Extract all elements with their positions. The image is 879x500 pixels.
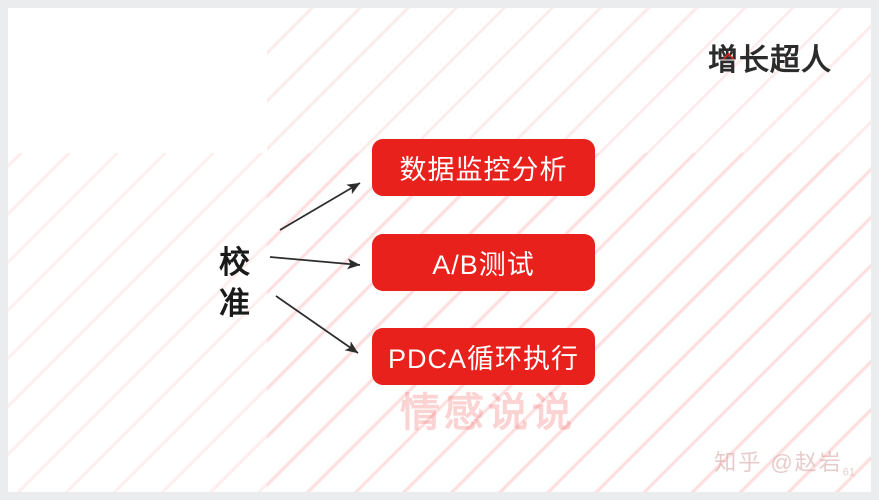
diagram-item-2[interactable]: PDCA循环执行 — [372, 328, 595, 385]
arrow-to-item-1 — [270, 257, 360, 265]
arrow-to-item-2 — [276, 296, 358, 353]
brand-logo-text: 增长超人 — [708, 46, 832, 76]
diagram-source-label: 校准 — [208, 243, 262, 325]
diagram-item-2-label: PDCA循环执行 — [388, 337, 579, 376]
slide-canvas: 增长超人 校准 数据监控分析 A/B测试 PDCA循环执行 情感说说 知乎 @赵… — [8, 8, 871, 492]
diagram-item-0[interactable]: 数据监控分析 — [372, 139, 595, 196]
center-watermark: 情感说说 — [400, 380, 576, 438]
corner-watermark-number: 61 — [843, 466, 855, 478]
arrow-to-item-0 — [280, 183, 360, 230]
diagonal-streak-watermark-lower — [8, 153, 871, 492]
corner-watermark: 知乎 @赵岩61 — [714, 445, 855, 478]
corner-watermark-text: 知乎 @赵岩 — [714, 450, 842, 475]
brand-logo: 增长超人 — [708, 46, 832, 76]
diagram-item-1[interactable]: A/B测试 — [372, 234, 595, 291]
diagram-item-1-label: A/B测试 — [432, 243, 535, 282]
diagram-item-0-label: 数据监控分析 — [400, 148, 568, 187]
